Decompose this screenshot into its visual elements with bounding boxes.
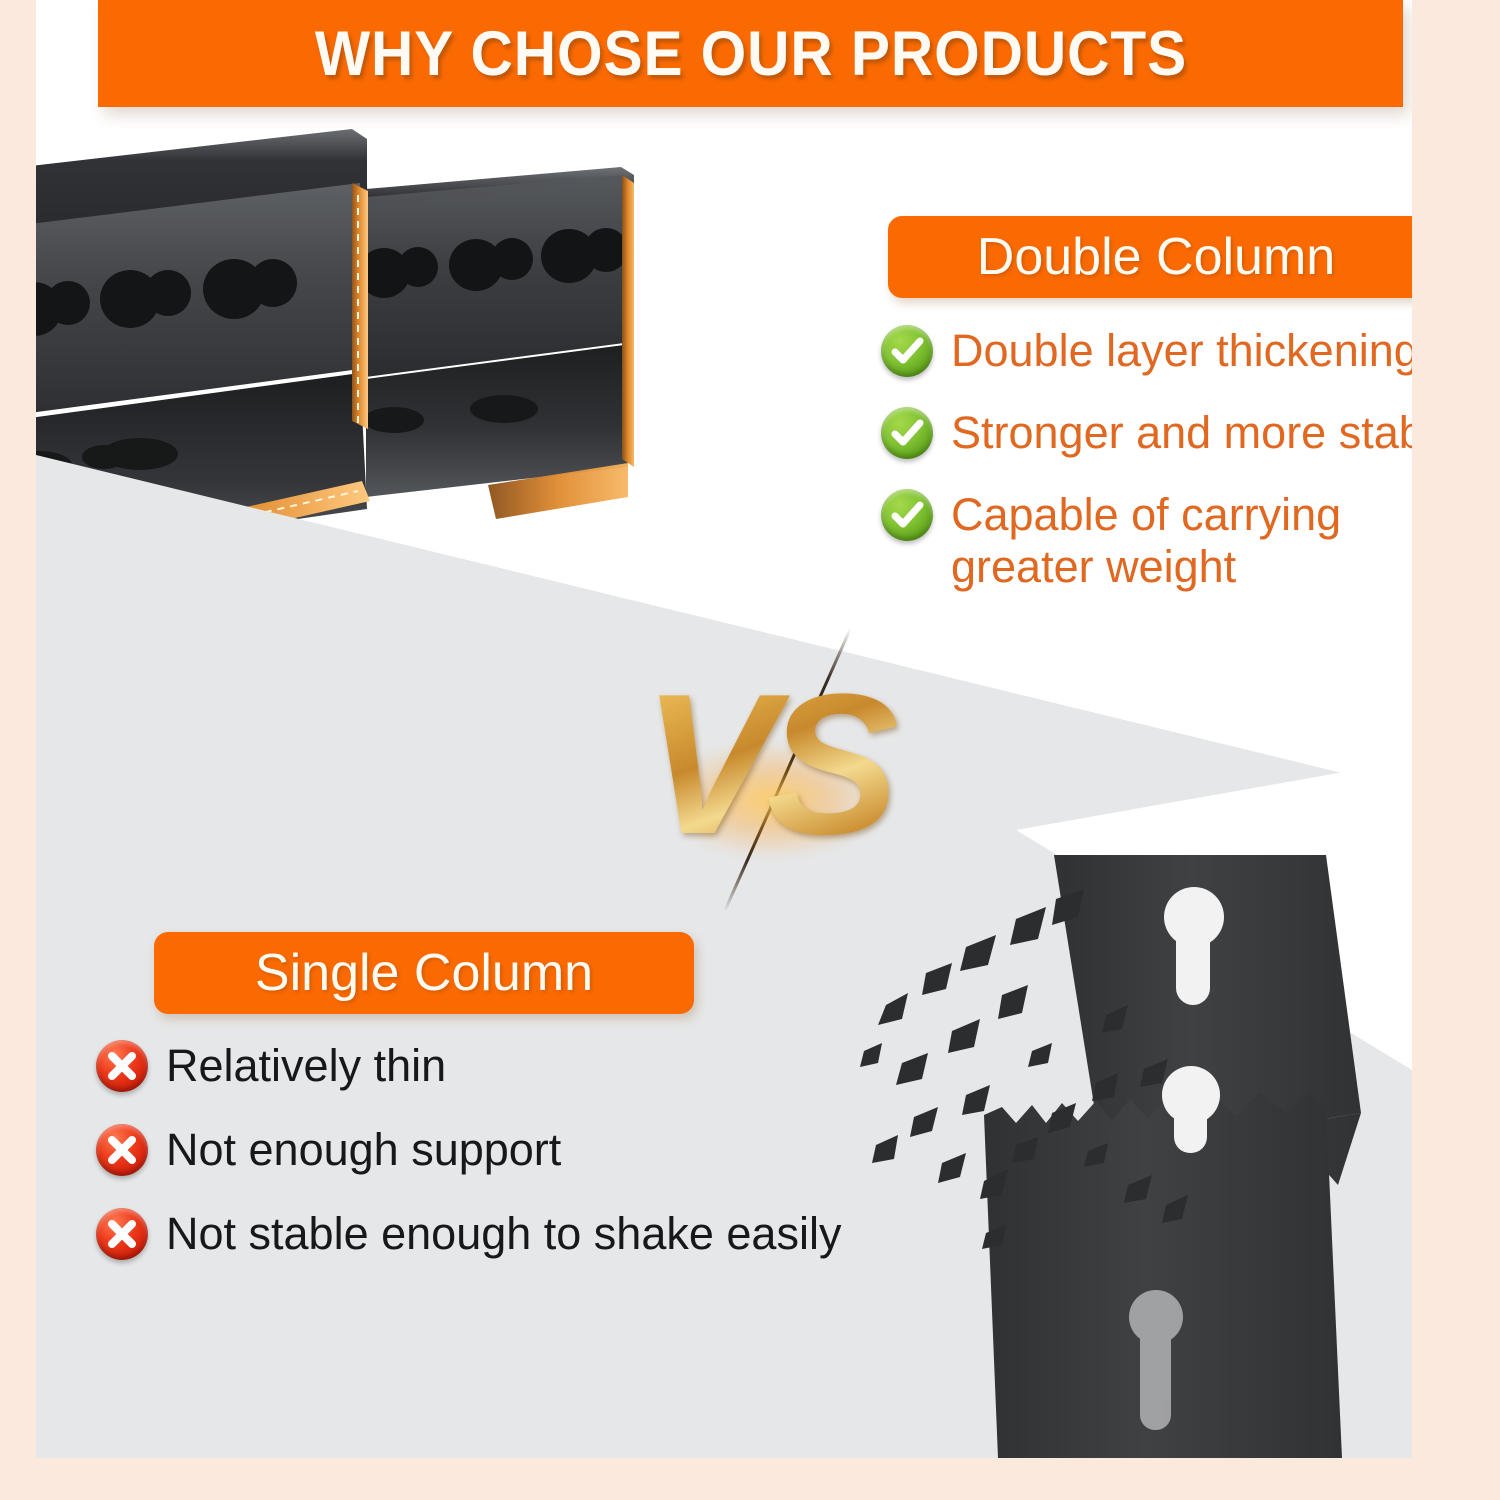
infographic-page: VS WHY CHOSE OUR PRODUCTS Double Column … [0, 0, 1500, 1500]
list-item: Double layer thickening [881, 325, 1412, 377]
list-item: Capable of carrying greater weight [881, 489, 1412, 593]
list-item: Not enough support [96, 1124, 916, 1176]
single-column-pill: Single Column [154, 932, 694, 1014]
list-item-label: Relatively thin [166, 1040, 446, 1092]
list-item-label: Not enough support [166, 1124, 561, 1176]
x-circle-icon [96, 1124, 148, 1176]
steel-rail-rear [366, 167, 816, 617]
x-circle-icon [96, 1040, 148, 1092]
content-canvas: VS WHY CHOSE OUR PRODUCTS Double Column … [36, 0, 1412, 1458]
list-item-label: Capable of carrying greater weight [951, 489, 1341, 593]
single-column-drawbacks-list: Relatively thin Not enough support Not s… [96, 1040, 916, 1292]
check-circle-icon [881, 325, 933, 377]
check-circle-icon [881, 489, 933, 541]
header-banner: WHY CHOSE OUR PRODUCTS [98, 0, 1403, 107]
single-column-pill-label: Single Column [255, 943, 593, 1003]
double-column-benefits-list: Double layer thickening Stronger and mor… [881, 325, 1412, 623]
list-item-label: Not stable enough to shake easily [166, 1208, 841, 1260]
broken-post-photo [856, 855, 1412, 1458]
x-circle-icon [96, 1208, 148, 1260]
list-item: Stronger and more stable [881, 407, 1412, 459]
list-item-label: Stronger and more stable [951, 407, 1412, 459]
page-title: WHY CHOSE OUR PRODUCTS [314, 18, 1186, 90]
list-item: Not stable enough to shake easily [96, 1208, 916, 1260]
double-column-pill-label: Double Column [977, 227, 1335, 287]
list-item-label-line2: greater weight [951, 541, 1341, 593]
list-item-label: Double layer thickening [951, 325, 1412, 377]
versus-badge: VS [636, 640, 896, 900]
list-item-label-line1: Capable of carrying [951, 489, 1341, 540]
list-item: Relatively thin [96, 1040, 916, 1092]
versus-label: VS [636, 640, 896, 900]
check-circle-icon [881, 407, 933, 459]
double-column-pill: Double Column [888, 216, 1412, 298]
